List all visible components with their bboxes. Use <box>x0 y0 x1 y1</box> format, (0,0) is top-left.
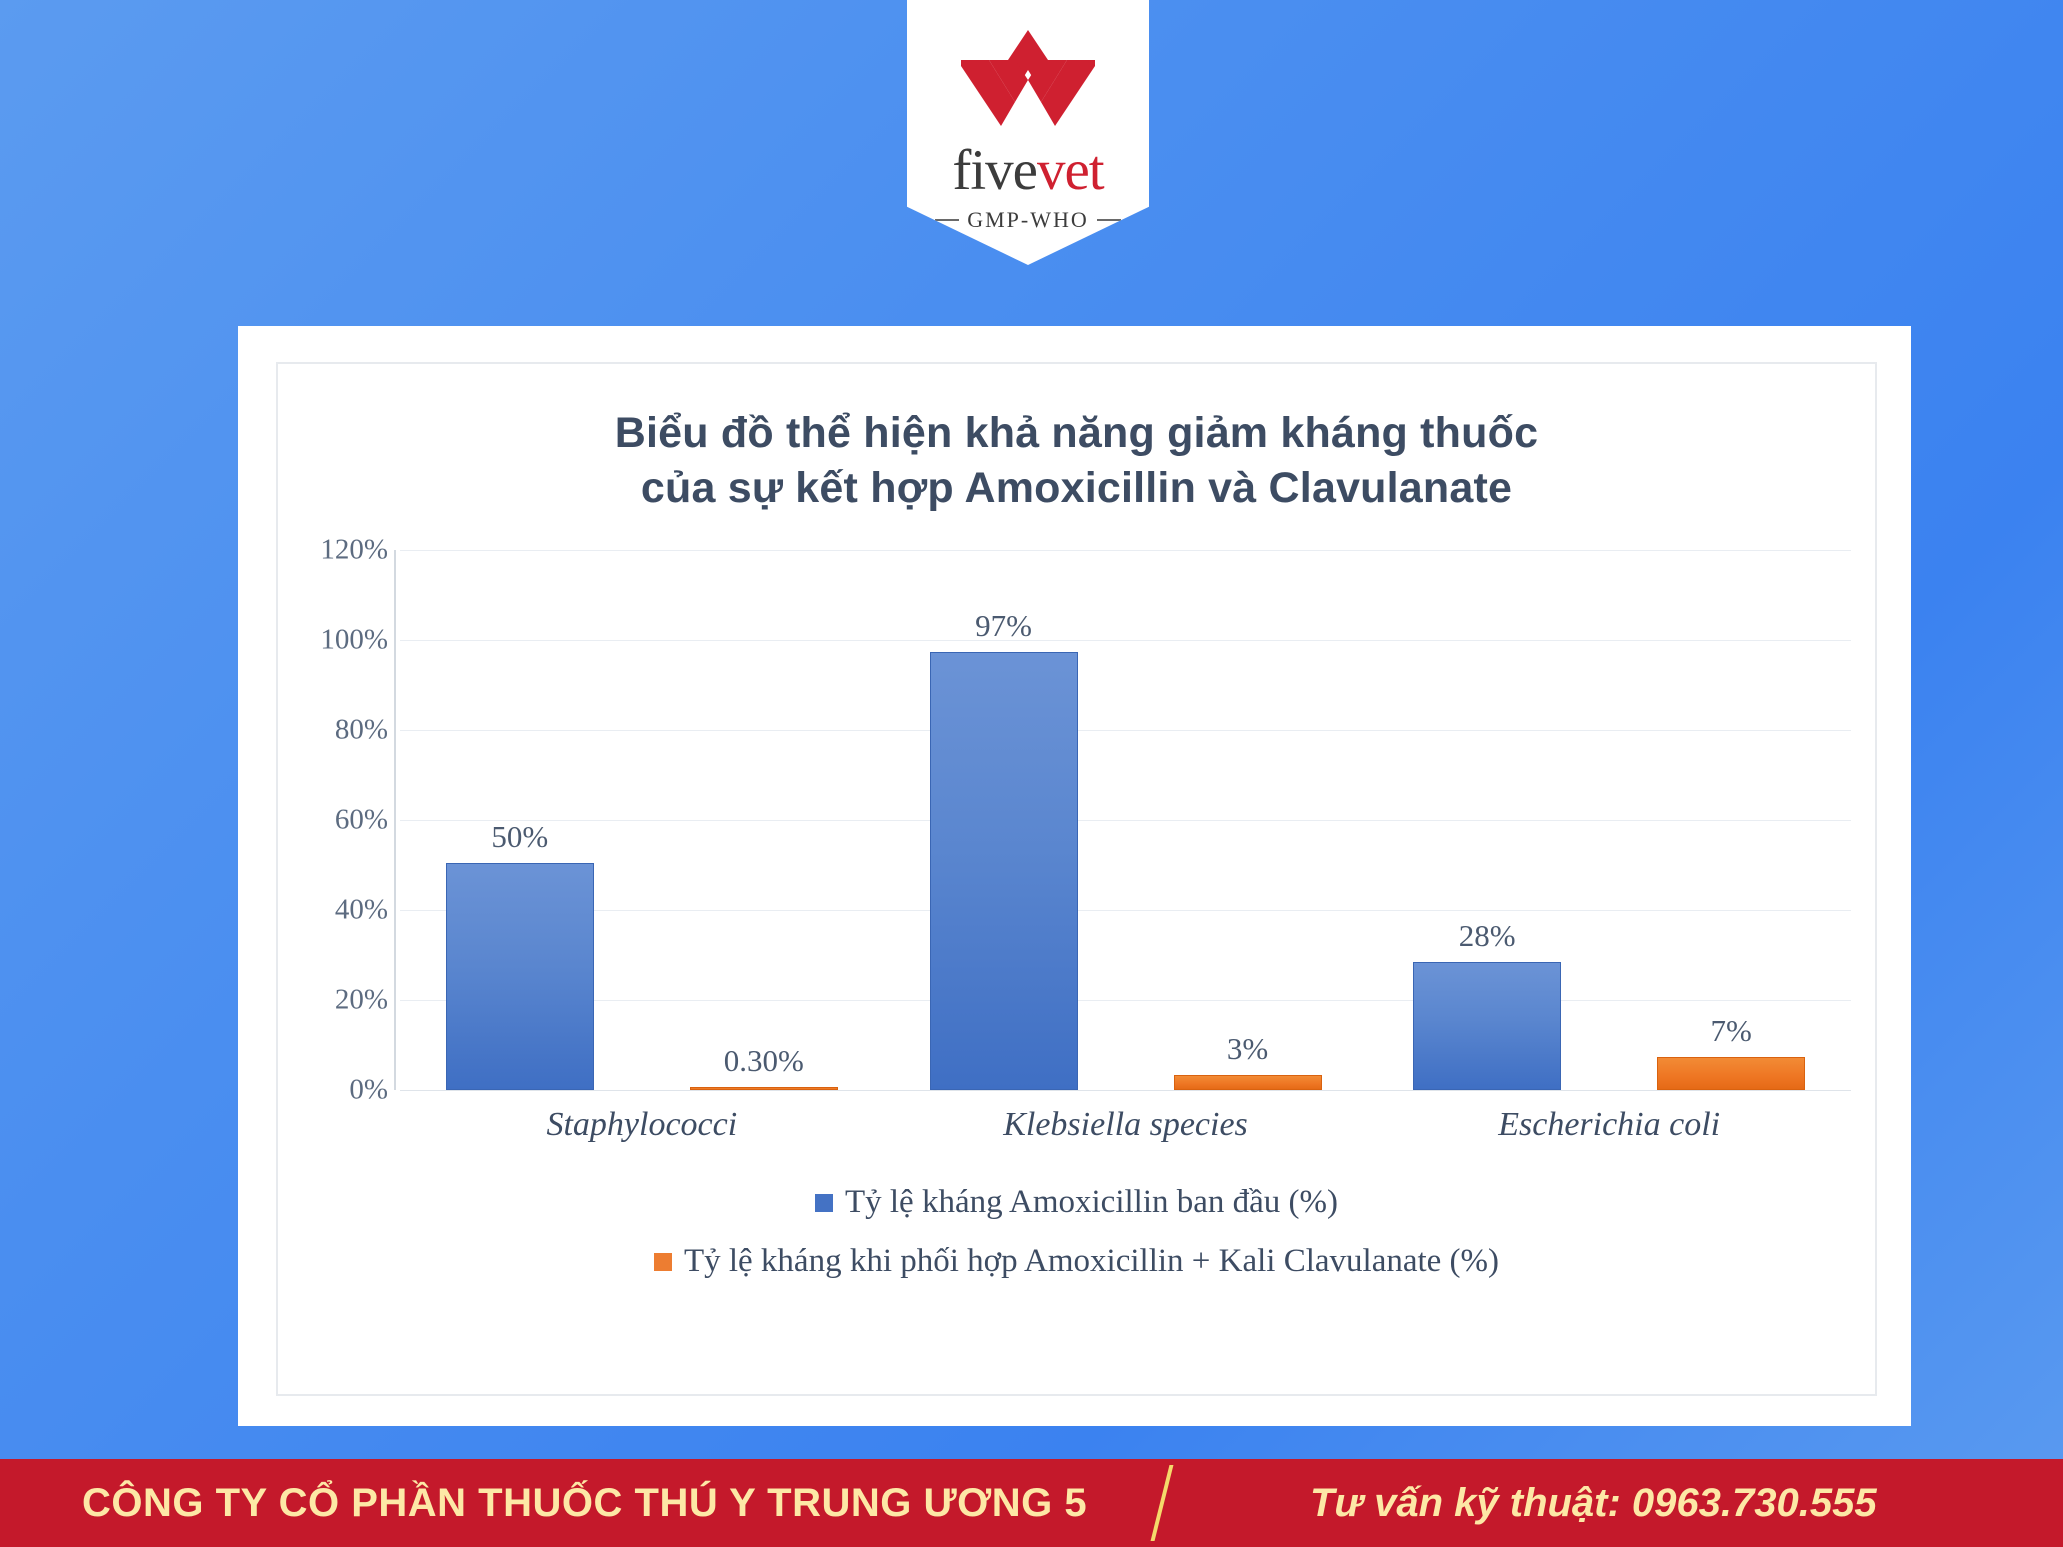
brand-wordmark: fivevet <box>952 142 1103 199</box>
legend-swatch-blue-icon <box>815 1194 833 1212</box>
legend-label-combo: Tỷ lệ kháng khi phối hợp Amoxicillin + K… <box>684 1243 1499 1280</box>
chart-frame: Biểu đồ thể hiện khả năng giảm kháng thu… <box>276 362 1877 1396</box>
data-label-kleb-blue: 97% <box>975 608 1032 644</box>
data-label-kleb-orange: 3% <box>1227 1031 1268 1067</box>
bar-ecoli-combo[interactable] <box>1657 1057 1805 1090</box>
bar-groups: 50% 0.30% 97% <box>400 550 1851 1090</box>
y-axis-tick-labels: 120% 100% 80% 60% 40% 20% 0% <box>278 550 388 1090</box>
legend-swatch-orange-icon <box>654 1253 672 1271</box>
x-cat-ecoli: Escherichia coli <box>1367 1106 1851 1144</box>
brand-logo-banner: fivevet GMP-WHO <box>907 0 1149 265</box>
bar-kleb-combo[interactable] <box>1174 1075 1322 1091</box>
brand-wordmark-five: five <box>952 139 1037 202</box>
brand-certification: GMP-WHO <box>935 207 1121 233</box>
y-tick-80: 80% <box>335 713 388 746</box>
x-cat-klebsiella: Klebsiella species <box>884 1106 1368 1144</box>
brand-wordmark-vet: vet <box>1037 139 1104 202</box>
bar-staph-amoxicillin[interactable] <box>446 863 594 1090</box>
y-tick-120: 120% <box>320 534 388 567</box>
bar-group-staphylococci: 50% 0.30% <box>400 550 884 1090</box>
footer-divider <box>1151 1465 1174 1541</box>
gridline-0 <box>400 1090 1851 1091</box>
legend-item-amoxicillin[interactable]: Tỷ lệ kháng Amoxicillin ban đầu (%) <box>815 1184 1338 1221</box>
brand-certification-label: GMP-WHO <box>967 207 1089 233</box>
bar-col-kleb-blue: 97% <box>930 550 1078 1090</box>
bar-col-kleb-orange: 3% <box>1174 550 1322 1090</box>
chart-legend: Tỷ lệ kháng Amoxicillin ban đầu (%) Tỷ l… <box>278 1184 1875 1280</box>
y-tick-0: 0% <box>349 1074 388 1107</box>
y-tick-40: 40% <box>335 894 388 927</box>
x-axis-category-labels: Staphylococci Klebsiella species Escheri… <box>400 1106 1851 1144</box>
bar-group-ecoli: 28% 7% <box>1367 550 1851 1090</box>
bar-col-staph-blue: 50% <box>446 550 594 1090</box>
fivevet-chevron-mark-icon <box>953 26 1103 138</box>
footer-bar: CÔNG TY CỔ PHẦN THUỐC THÚ Y TRUNG ƯƠNG 5… <box>0 1459 2063 1547</box>
y-axis-line <box>394 550 396 1090</box>
bar-group-klebsiella: 97% 3% <box>884 550 1368 1090</box>
chart-title: Biểu đồ thể hiện khả năng giảm kháng thu… <box>278 364 1875 516</box>
y-tick-60: 60% <box>335 804 388 837</box>
legend-label-amoxicillin: Tỷ lệ kháng Amoxicillin ban đầu (%) <box>845 1184 1338 1221</box>
footer-company-name: CÔNG TY CỔ PHẦN THUỐC THÚ Y TRUNG ƯƠNG 5 <box>82 1481 1087 1526</box>
chart-title-line-2: của sự kết hợp Amoxicillin và Clavulanat… <box>278 461 1875 516</box>
bar-col-ecoli-orange: 7% <box>1657 550 1805 1090</box>
rule-left <box>935 219 959 221</box>
legend-item-combo[interactable]: Tỷ lệ kháng khi phối hợp Amoxicillin + K… <box>654 1243 1499 1280</box>
bar-ecoli-amoxicillin[interactable] <box>1413 962 1561 1090</box>
plot-canvas: 50% 0.30% 97% <box>400 550 1851 1090</box>
bar-staph-combo[interactable] <box>690 1087 838 1090</box>
chart-title-line-1: Biểu đồ thể hiện khả năng giảm kháng thu… <box>278 406 1875 461</box>
chart-card: Biểu đồ thể hiện khả năng giảm kháng thu… <box>238 326 1911 1426</box>
data-label-staph-orange: 0.30% <box>724 1043 804 1079</box>
bar-kleb-amoxicillin[interactable] <box>930 652 1078 1090</box>
y-tick-100: 100% <box>320 624 388 657</box>
bar-col-ecoli-blue: 28% <box>1413 550 1561 1090</box>
x-cat-staphylococci: Staphylococci <box>400 1106 884 1144</box>
data-label-staph-blue: 50% <box>491 819 548 855</box>
y-tick-20: 20% <box>335 983 388 1016</box>
data-label-ecoli-orange: 7% <box>1711 1013 1752 1049</box>
plot-area: 120% 100% 80% 60% 40% 20% 0% <box>278 550 1875 1090</box>
data-label-ecoli-blue: 28% <box>1459 918 1516 954</box>
footer-hotline: Tư vấn kỹ thuật: 0963.730.555 <box>1310 1481 1877 1526</box>
bar-col-staph-orange: 0.30% <box>690 550 838 1090</box>
rule-right <box>1097 219 1121 221</box>
